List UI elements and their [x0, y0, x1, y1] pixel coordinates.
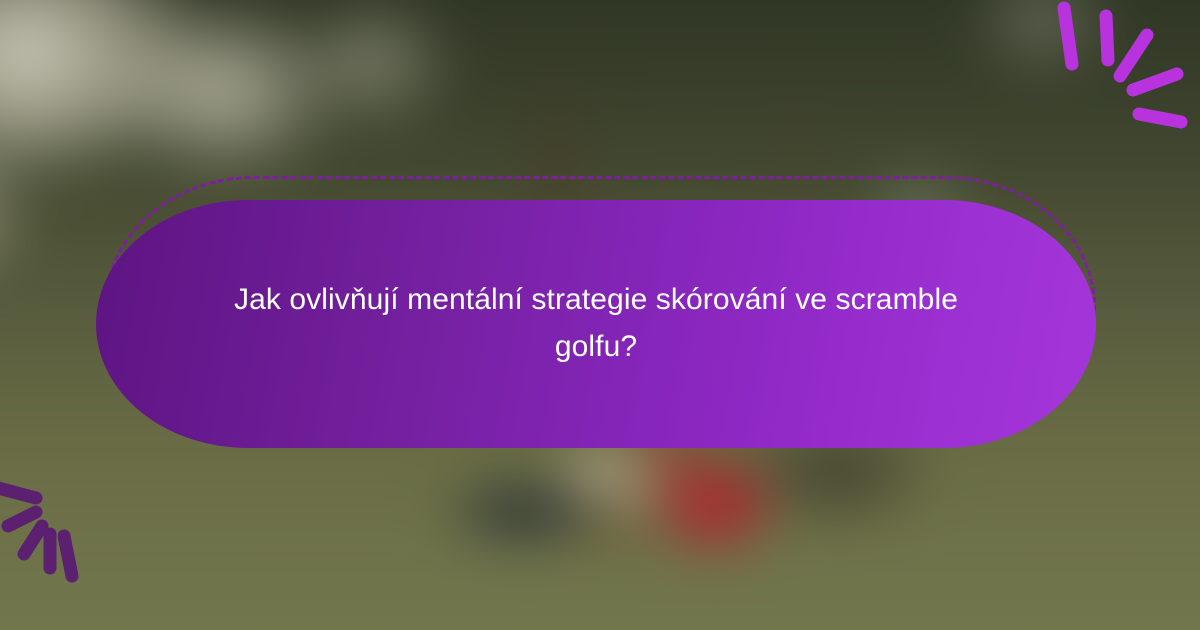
sparkle-burst-bottom-left-icon — [0, 468, 164, 630]
poster-stage: Jak ovlivňují mentální strategie skórová… — [0, 0, 1200, 630]
question-card[interactable]: Jak ovlivňují mentální strategie skórová… — [96, 176, 1104, 448]
card-body[interactable]: Jak ovlivňují mentální strategie skórová… — [96, 200, 1096, 448]
card-title: Jak ovlivňují mentální strategie skórová… — [216, 277, 976, 371]
sparkle-burst-top-right-icon — [1040, 0, 1200, 150]
